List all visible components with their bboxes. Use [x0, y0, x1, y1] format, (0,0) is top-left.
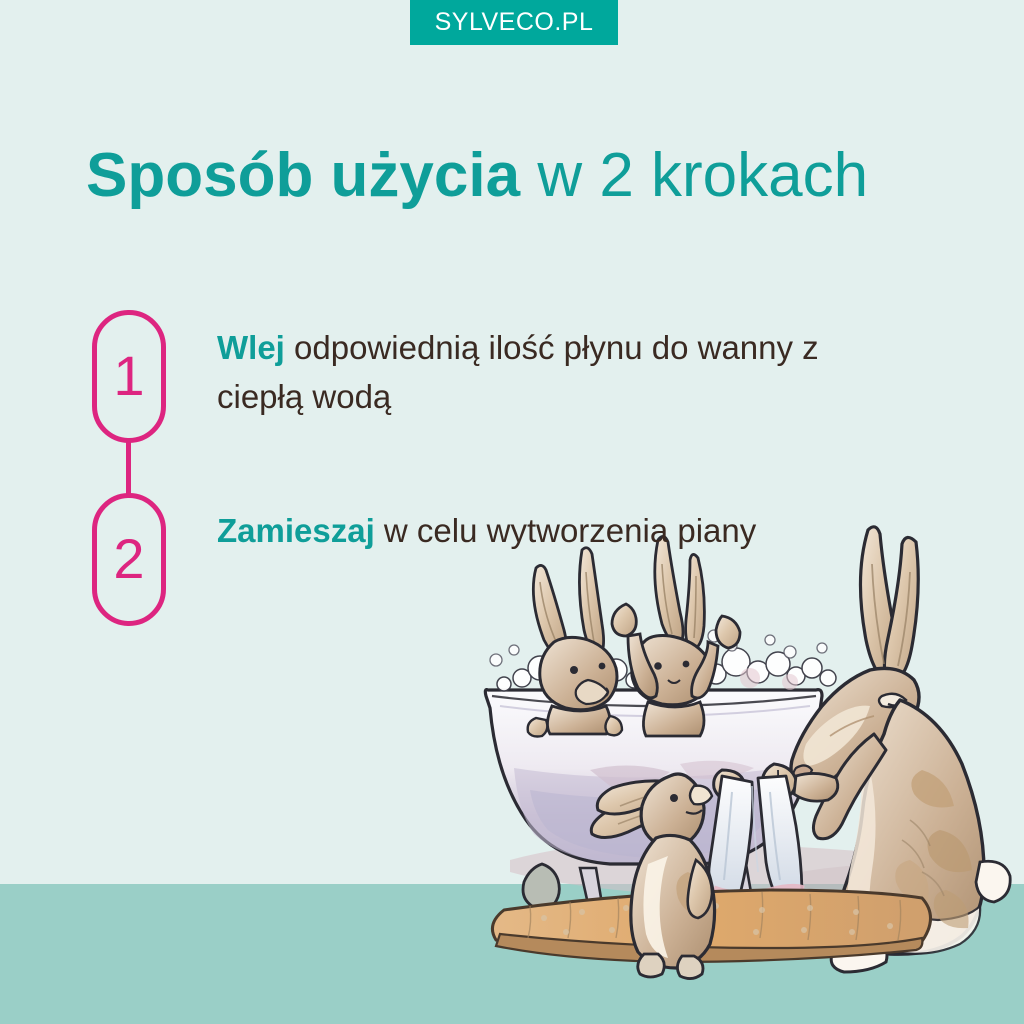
step-badge-2: 2 [92, 493, 166, 626]
step-text-1: Wlej odpowiednią ilość płynu do wanny z … [217, 324, 837, 422]
step-connector-line [126, 440, 131, 496]
step-number-1: 1 [113, 348, 144, 404]
step-badge-1: 1 [92, 310, 166, 443]
step-lead-2: Zamieszaj [217, 512, 375, 549]
step-rest-2: w celu wytworzenia piany [375, 512, 757, 549]
steps-list: 1 Wlej odpowiednią ilość płynu do wanny … [0, 0, 1024, 1024]
step-text-2: Zamieszaj w celu wytworzenia piany [217, 507, 837, 556]
step-rest-1: odpowiednią ilość płynu do wanny z ciepł… [217, 329, 819, 415]
step-number-2: 2 [113, 531, 144, 587]
infographic-page: SYLVECO.PL Sposób użycia w 2 krokach 1 W… [0, 0, 1024, 1024]
step-lead-1: Wlej [217, 329, 285, 366]
